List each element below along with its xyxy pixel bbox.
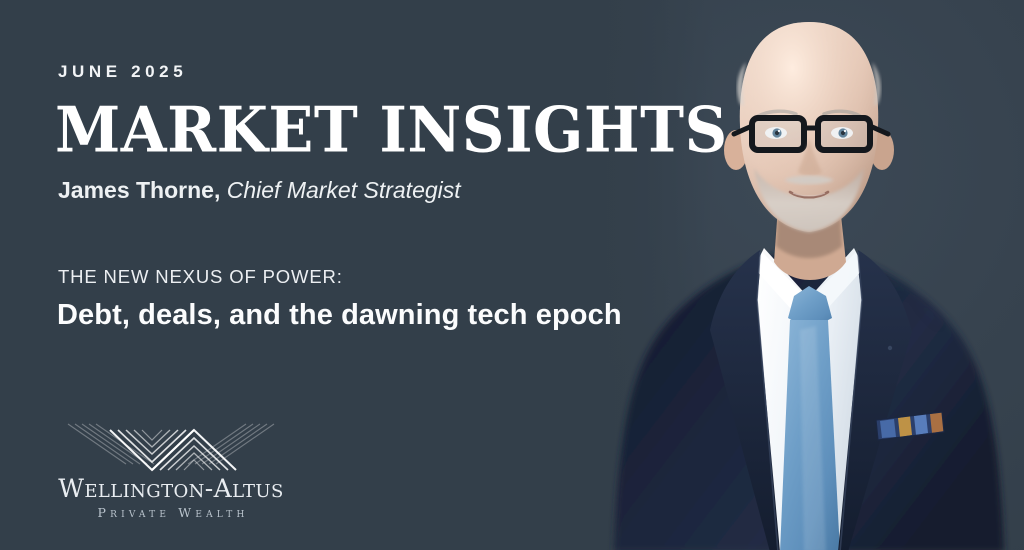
brand-tagline: Private Wealth: [48, 507, 294, 520]
author-name: James Thorne,: [58, 177, 220, 203]
byline: James Thorne, Chief Market Strategist: [58, 177, 461, 204]
brand-wordmark: Wellington-Altus: [48, 476, 294, 501]
feature-kicker: THE NEW NEXUS OF POWER:: [58, 266, 343, 288]
page-title: MARKET INSIGHTS: [55, 98, 728, 161]
market-insights-banner: JUNE 2025 MARKET INSIGHTS James Thorne, …: [0, 0, 1024, 550]
brand-logo: Wellington-Altus Private Wealth: [48, 418, 294, 520]
lapel-buttonhole: [888, 346, 892, 350]
author-role: Chief Market Strategist: [227, 177, 461, 203]
issue-date: JUNE 2025: [58, 62, 187, 82]
wellington-altus-chevron-logo-icon: [48, 418, 294, 474]
feature-headline: Debt, deals, and the dawning tech epoch: [57, 299, 622, 332]
